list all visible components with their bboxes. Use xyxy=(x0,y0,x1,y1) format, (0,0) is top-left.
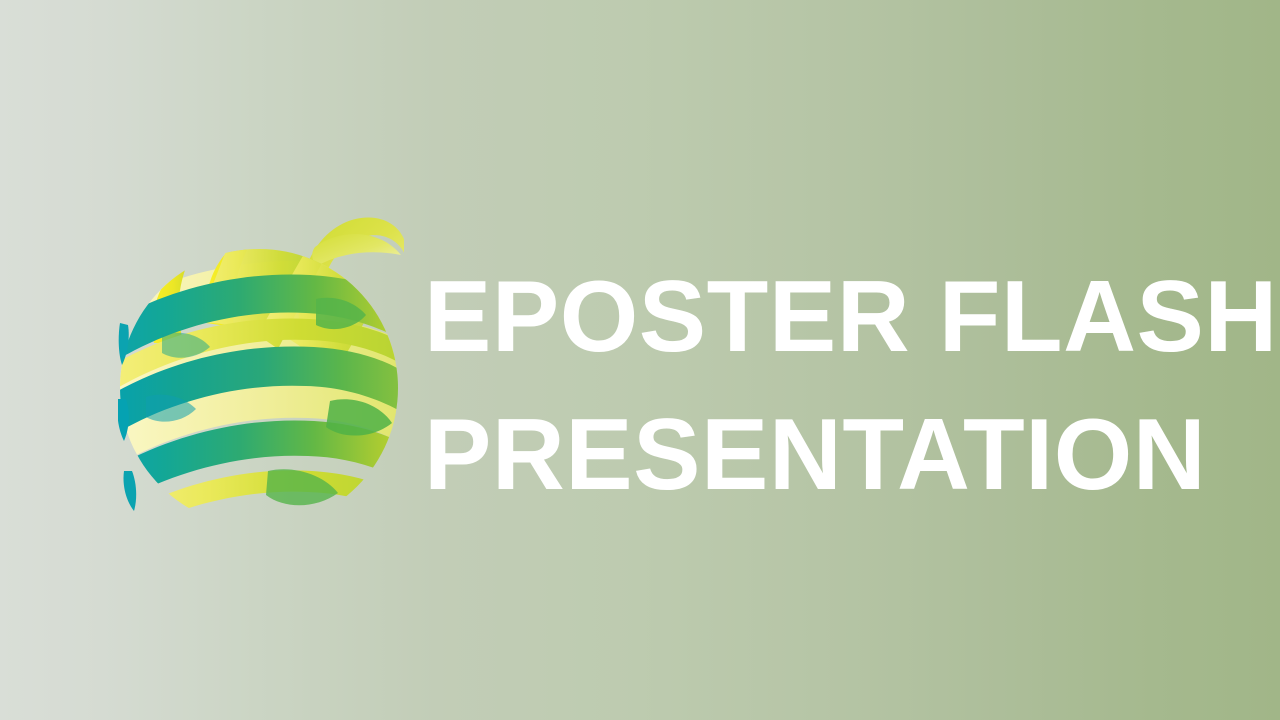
presentation-slide: EPOSTER FLASH PRESENTATION xyxy=(0,0,1280,720)
title-line-1: EPOSTER FLASH xyxy=(424,248,1224,386)
title-line-2: PRESENTATION xyxy=(424,386,1224,524)
globe-ribbon-leaf-logo xyxy=(118,203,404,513)
slide-title: EPOSTER FLASH PRESENTATION xyxy=(424,248,1224,524)
logo-globe-bands xyxy=(118,223,404,513)
